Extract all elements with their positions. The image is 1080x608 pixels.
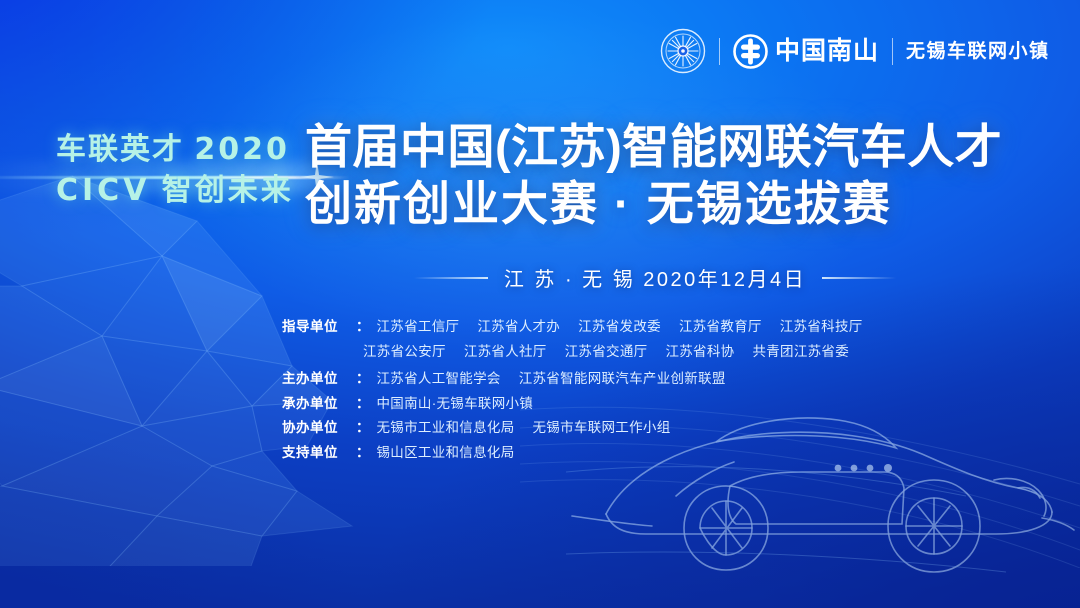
organizer-items: 中国南山·无锡车联网小镇 xyxy=(377,397,534,411)
subtitle-rule-left xyxy=(414,277,488,279)
organizer-row-coorganizer: 协办单位： 无锡市工业和信息化局 无锡市车联网工作小组 xyxy=(282,421,842,435)
organizer-row-guidance-cont: 江苏省公安厅 江苏省人社厅 江苏省交通厅 江苏省科协 共青团江苏省委 xyxy=(282,345,842,359)
title-line-2: 创新创业大赛 · 无锡选拔赛 xyxy=(305,175,1025,232)
event-brand-lockup: 车联英才 2020 CICV 智创未来 xyxy=(56,133,306,209)
lockup-line-1: 车联英才 2020 xyxy=(56,133,306,167)
organizer-colon: ： xyxy=(356,320,370,334)
lockup-cn-text: 车联英才 xyxy=(56,133,184,166)
organizer-items: 江苏省人工智能学会 江苏省智能网联汽车产业创新联盟 xyxy=(377,372,726,386)
organizer-item: 无锡市车联网工作小组 xyxy=(533,421,671,435)
organizer-item: 江苏省教育厅 xyxy=(679,320,762,334)
organizer-items: 锡山区工业和信息化局 xyxy=(377,446,515,460)
organizer-item: 江苏省科技厅 xyxy=(780,320,863,334)
organizer-colon: ： xyxy=(356,397,370,411)
organizer-item: 江苏省人工智能学会 xyxy=(377,372,501,386)
organizer-row-host: 主办单位： 江苏省人工智能学会 江苏省智能网联汽车产业创新联盟 xyxy=(282,372,842,386)
organizer-item: 江苏省人才办 xyxy=(477,320,560,334)
organizer-item: 江苏省智能网联汽车产业创新联盟 xyxy=(519,372,726,386)
organizer-row-support: 支持单位： 锡山区工业和信息化局 xyxy=(282,446,842,460)
lockup-en-text: CICV xyxy=(56,173,150,208)
brand-town-text: 无锡车联网小镇 xyxy=(906,42,1050,61)
organizer-block: 指导单位： 江苏省工信厅 江苏省人才办 江苏省发改委 江苏省教育厅 江苏省科技厅… xyxy=(282,320,842,470)
organizer-label: 协办单位 xyxy=(282,421,356,435)
organizer-colon: ： xyxy=(356,421,370,435)
organizer-colon: ： xyxy=(356,446,370,460)
organizer-row-organizer: 承办单位： 中国南山·无锡车联网小镇 xyxy=(282,397,842,411)
organizer-item: 江苏省交通厅 xyxy=(565,345,648,359)
lockup-year-text: 2020 xyxy=(194,132,290,167)
logo-divider-1 xyxy=(719,38,720,65)
organizer-label: 承办单位 xyxy=(282,397,356,411)
lockup-line-2: CICV 智创未来 xyxy=(56,173,306,209)
organizer-label: 主办单位 xyxy=(282,372,356,386)
organizer-item: 锡山区工业和信息化局 xyxy=(377,446,515,460)
organizer-label: 支持单位 xyxy=(282,446,356,460)
organizer-item: 中国南山·无锡车联网小镇 xyxy=(377,397,534,411)
page-title: 首届中国(江苏)智能网联汽车人才 创新创业大赛 · 无锡选拔赛 xyxy=(305,118,1025,233)
poster-canvas: 中国南山 无锡车联网小镇 车联英才 2020 CICV 智创未来 首届中国(江苏… xyxy=(0,0,1080,608)
title-line-1: 首届中国(江苏)智能网联汽车人才 xyxy=(305,118,1025,175)
organizer-items: 江苏省工信厅 江苏省人才办 江苏省发改委 江苏省教育厅 江苏省科技厅 xyxy=(377,320,863,334)
organizer-colon: ： xyxy=(356,372,370,386)
organizer-item: 共青团江苏省委 xyxy=(752,345,849,359)
circular-radiant-emblem-icon xyxy=(660,28,706,74)
organizer-item: 江苏省人社厅 xyxy=(464,345,547,359)
logo-divider-2 xyxy=(892,38,893,65)
subtitle-rule-right xyxy=(822,277,896,279)
subtitle-text: 江 苏 · 无 锡 2020年12月4日 xyxy=(504,263,806,292)
organizer-item: 江苏省工信厅 xyxy=(377,320,460,334)
organizer-item: 江苏省科协 xyxy=(665,345,734,359)
organizer-items: 江苏省公安厅 江苏省人社厅 江苏省交通厅 江苏省科协 共青团江苏省委 xyxy=(363,345,849,359)
brand-nanshan-text: 中国南山 xyxy=(775,39,879,64)
organizer-item: 江苏省发改委 xyxy=(578,320,661,334)
organizer-item: 无锡市工业和信息化局 xyxy=(377,421,515,435)
lockup-slogan-text: 智创未来 xyxy=(162,174,294,207)
nanshan-circular-logo-icon xyxy=(733,34,768,69)
organizer-row-guidance: 指导单位： 江苏省工信厅 江苏省人才办 江苏省发改委 江苏省教育厅 江苏省科技厅 xyxy=(282,320,842,334)
organizer-items: 无锡市工业和信息化局 无锡市车联网工作小组 xyxy=(377,421,671,435)
organizer-item: 江苏省公安厅 xyxy=(363,345,446,359)
organizer-label: 指导单位 xyxy=(282,320,356,334)
header-logo-bar: 中国南山 无锡车联网小镇 xyxy=(660,27,1050,75)
subtitle-row: 江 苏 · 无 锡 2020年12月4日 xyxy=(305,263,1005,292)
